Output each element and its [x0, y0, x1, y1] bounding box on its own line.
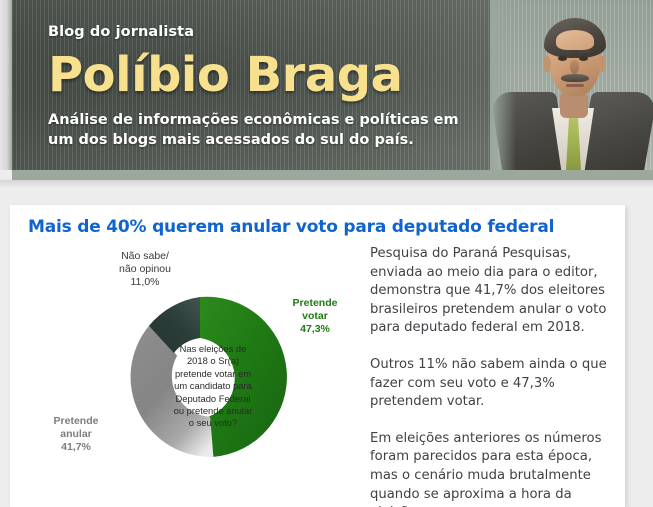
portrait-left-fade [490, 0, 516, 170]
portrait-forehead [556, 30, 594, 50]
chart-label-nao-sabe: Não sabe/ não opinou 11,0% [90, 250, 200, 289]
article-headline[interactable]: Mais de 40% querem anular voto para depu… [28, 217, 554, 237]
banner-site-title[interactable]: Políbio Braga [48, 46, 402, 104]
center-question-line-4: um candidato para [154, 380, 272, 392]
article-body: Pesquisa do Paraná Pesquisas, enviada ao… [370, 245, 622, 507]
header-bottom-bar [12, 170, 653, 180]
banner-kicker: Blog do jornalista [48, 24, 194, 40]
page-root: Blog do jornalista Políbio Braga Análise… [0, 0, 653, 507]
article-paragraph-1: Pesquisa do Paraná Pesquisas, enviada ao… [370, 245, 622, 338]
chart-center-question: Nas eleições de 2018 o Sr(a) pretende vo… [154, 343, 272, 430]
chart-label-pretende-anular: Pretende anular 41,7% [24, 415, 128, 454]
article-paragraph-3: Em eleições anteriores os números foram … [370, 430, 622, 507]
site-banner: Blog do jornalista Políbio Braga Análise… [0, 0, 653, 170]
portrait-ear-left [543, 56, 551, 72]
center-question-line-6: ou pretende anular [154, 405, 272, 417]
portrait-moustache [561, 74, 589, 82]
chart-label-pretende-anular-value: 41,7% [24, 441, 128, 454]
chart-label-pretende-votar-line1: Pretende [268, 297, 362, 310]
portrait-eyebrow-right [578, 50, 591, 53]
chart-label-pretende-anular-line2: anular [24, 428, 128, 441]
portrait-eyebrow-left [556, 50, 569, 53]
center-question-line-3: pretende votar em [154, 368, 272, 380]
portrait-eye-right [579, 56, 588, 61]
chart-label-pretende-votar: Pretende votar 47,3% [268, 297, 362, 336]
chart-label-nao-sabe-line1: Não sabe/ [90, 250, 200, 263]
chart-label-pretende-votar-value: 47,3% [268, 323, 362, 336]
center-question-line-2: 2018 o Sr(a) [154, 355, 272, 367]
center-question-line-7: o seu voto? [154, 417, 272, 429]
portrait-eye-left [558, 56, 567, 61]
article-paragraph-2: Outros 11% não sabem ainda o que fazer c… [370, 356, 622, 412]
banner-tagline: Análise de informações econômicas e polí… [48, 110, 468, 150]
portrait-mouth [566, 84, 584, 87]
chart-label-nao-sabe-value: 11,0% [90, 276, 200, 289]
center-question-line-5: Deputado Federal [154, 393, 272, 405]
portrait-ear-right [598, 56, 606, 72]
banner-left-margin-strip [0, 0, 12, 170]
article-card: Mais de 40% querem anular voto para depu… [10, 205, 625, 507]
chart-label-pretende-votar-line2: votar [268, 310, 362, 323]
center-question-line-1: Nas eleições de [154, 343, 272, 355]
poll-donut-chart: Não sabe/ não opinou 11,0% Pretende vota… [22, 245, 362, 503]
chart-label-pretende-anular-line1: Pretende [24, 415, 128, 428]
chart-label-nao-sabe-line2: não opinou [90, 263, 200, 276]
header-drop-shadow [0, 180, 653, 188]
portrait-nose [570, 60, 579, 74]
journalist-portrait-photo [490, 0, 653, 170]
